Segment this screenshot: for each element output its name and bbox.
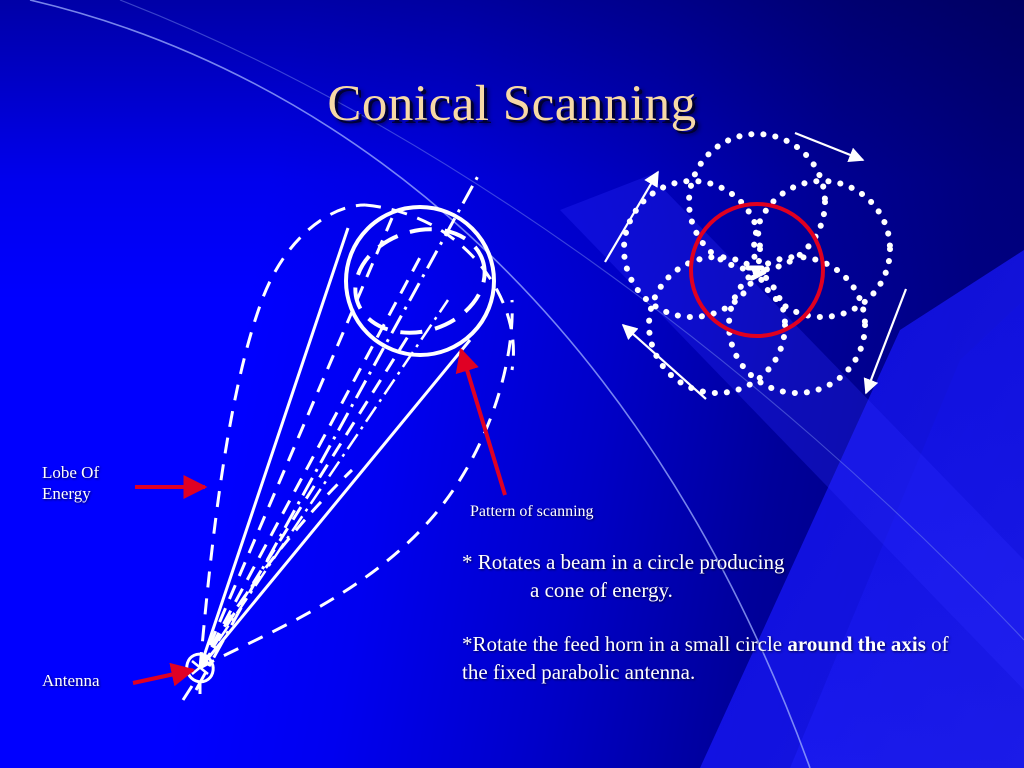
page-title: Conical Scanning (0, 78, 1024, 132)
arrow-pattern-of-scanning (461, 350, 505, 495)
arrow-antenna (133, 670, 193, 683)
bullet-2-text-bold: around the axis (787, 632, 925, 656)
bullet-1-line-2: a cone of energy. (462, 576, 932, 604)
bullet-1-line-1: * Rotates a beam in a circle producing (462, 550, 784, 574)
slide-canvas: Conical Scanning Lobe Of Energy Antenna … (0, 0, 1024, 768)
label-antenna: Antenna (42, 670, 100, 691)
bullet-item-2: *Rotate the feed horn in a small circle … (462, 630, 952, 687)
label-pattern-of-scanning: Pattern of scanning (470, 502, 594, 522)
bullet-item-1: * Rotates a beam in a circle producing a… (462, 548, 932, 605)
bullet-2-text-part-1: *Rotate the feed horn in a small circle (462, 632, 787, 656)
label-lobe-of-energy: Lobe Of Energy (42, 462, 99, 505)
